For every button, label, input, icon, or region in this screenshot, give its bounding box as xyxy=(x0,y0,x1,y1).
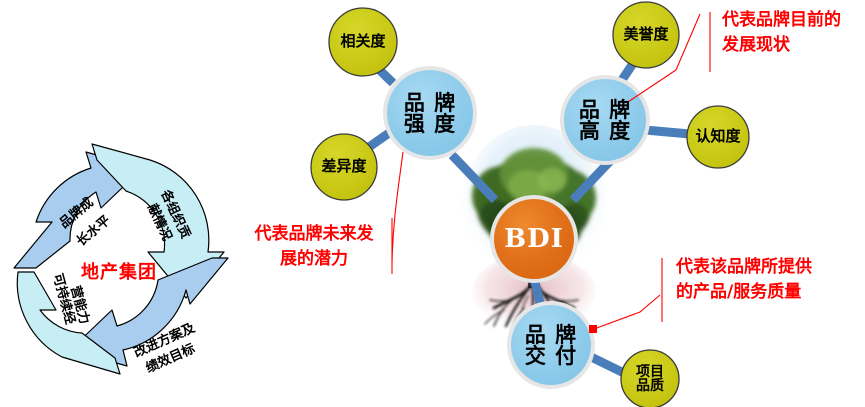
main-node-brand-height[interactable] xyxy=(564,79,646,161)
center-node-group xyxy=(490,195,578,283)
sub-node-project-quality[interactable] xyxy=(621,350,679,407)
leader-brand-delivery xyxy=(594,295,660,329)
diagram-svg: 品牌成 长水平 各组织贡 献情况 改进方案及 绩效目标 可持续经 营能力 xyxy=(0,0,865,407)
connector-brand-height-awareness xyxy=(645,130,690,134)
sub-node-reputation[interactable] xyxy=(613,2,679,68)
cycle-diagram-group: 品牌成 长水平 各组织贡 献情况 改进方案及 绩效目标 可持续经 营能力 xyxy=(14,144,228,376)
diagram-canvas: 品牌成 长水平 各组织贡 献情况 改进方案及 绩效目标 可持续经 营能力 xyxy=(0,0,865,407)
sub-node-differentiation[interactable] xyxy=(311,134,377,200)
sub-node-relevance[interactable] xyxy=(329,8,397,76)
sub-node-awareness[interactable] xyxy=(687,106,749,168)
main-node-brand-delivery[interactable] xyxy=(511,305,591,385)
main-node-brand-strength[interactable] xyxy=(387,70,473,156)
leader-brand-strength xyxy=(392,152,403,262)
center-node-bdi[interactable] xyxy=(494,199,574,279)
leader-endpoint-brand-delivery xyxy=(589,325,597,333)
